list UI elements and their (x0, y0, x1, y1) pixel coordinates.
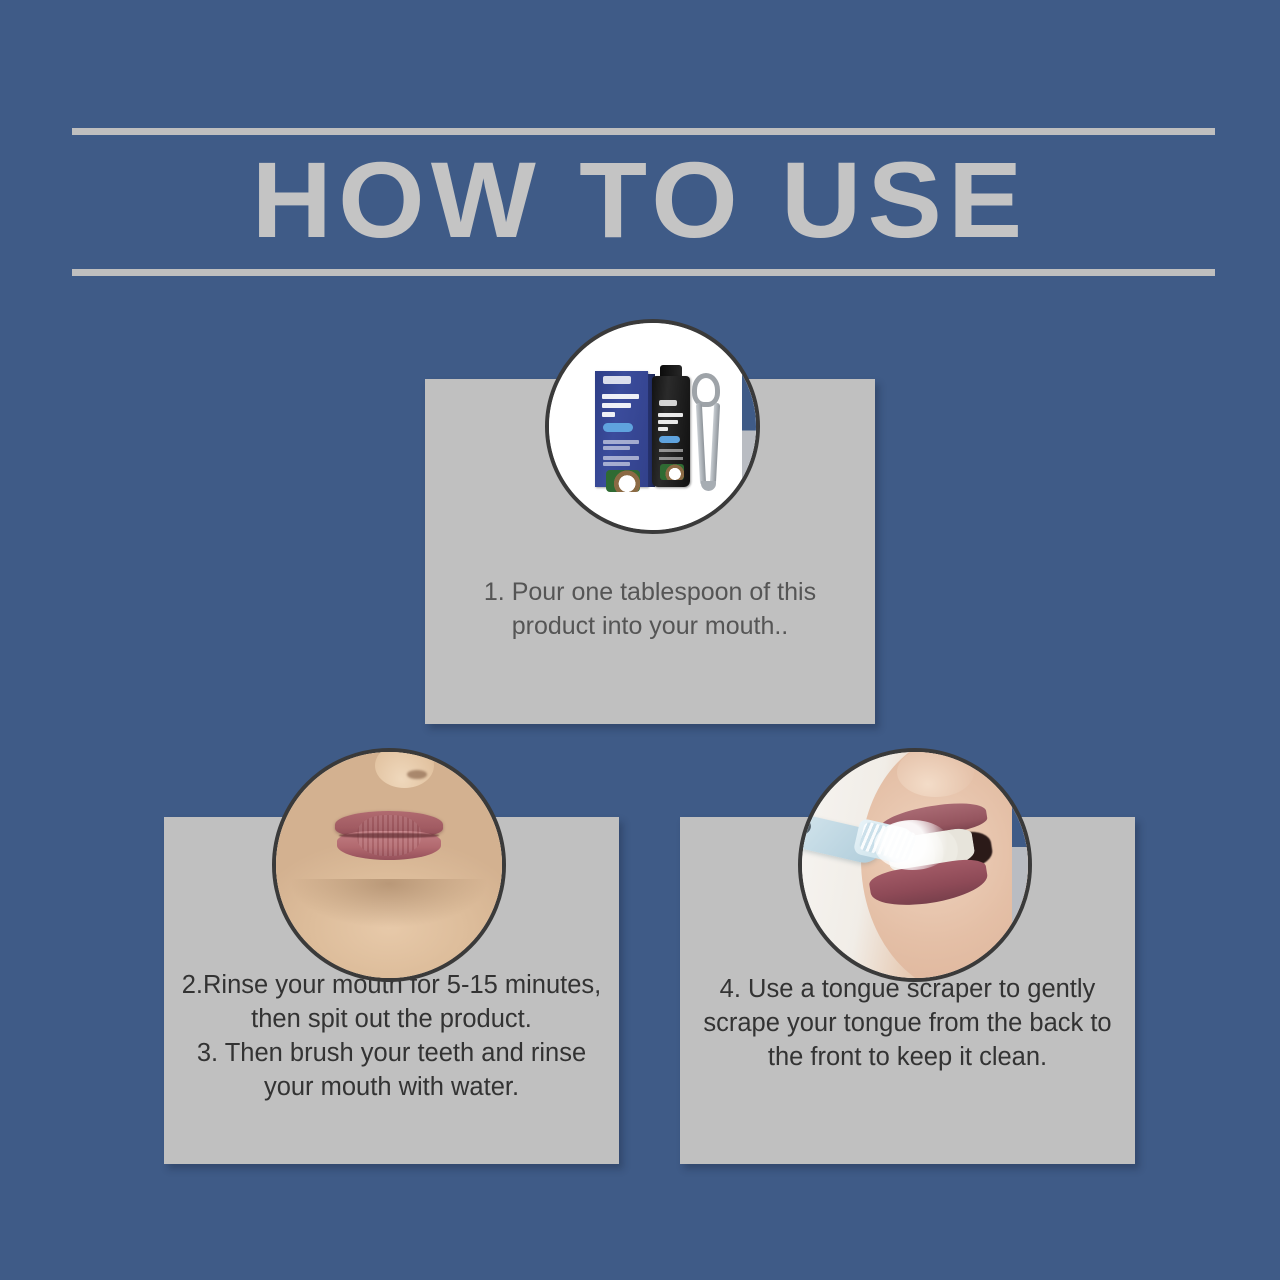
step-2-image-medallion (272, 748, 506, 982)
brand-logo-icon (659, 400, 677, 406)
coconut-icon (660, 464, 684, 480)
step-1-text: 1. Pour one tablespoon of this product i… (439, 575, 861, 643)
step-1-image-medallion (545, 319, 760, 534)
step-2-text: 2.Rinse your mouth for 5-15 minutes, the… (178, 968, 605, 1104)
product-bottle (652, 376, 690, 487)
mouth-rinsing-photo (276, 752, 502, 978)
product-bottle-box-scraper-photo (549, 323, 756, 530)
brand-logo-icon (603, 376, 631, 384)
step-3-text: 4. Use a tongue scraper to gently scrape… (694, 972, 1121, 1074)
premium-badge (603, 423, 633, 432)
header-divider-top (72, 128, 1215, 135)
product-carton (595, 371, 648, 487)
page-title: HOW TO USE (0, 137, 1280, 262)
step-3-image-medallion (798, 748, 1032, 982)
infographic-page: HOW TO USE 1. Pour one tablespoon of thi… (0, 0, 1280, 1280)
header-divider-bottom (72, 269, 1215, 276)
brushing-teeth-photo (802, 752, 1028, 978)
coconut-icon (606, 470, 640, 492)
tongue-scraper-icon (692, 373, 720, 407)
premium-badge (659, 436, 680, 443)
nose-shape (897, 748, 974, 797)
